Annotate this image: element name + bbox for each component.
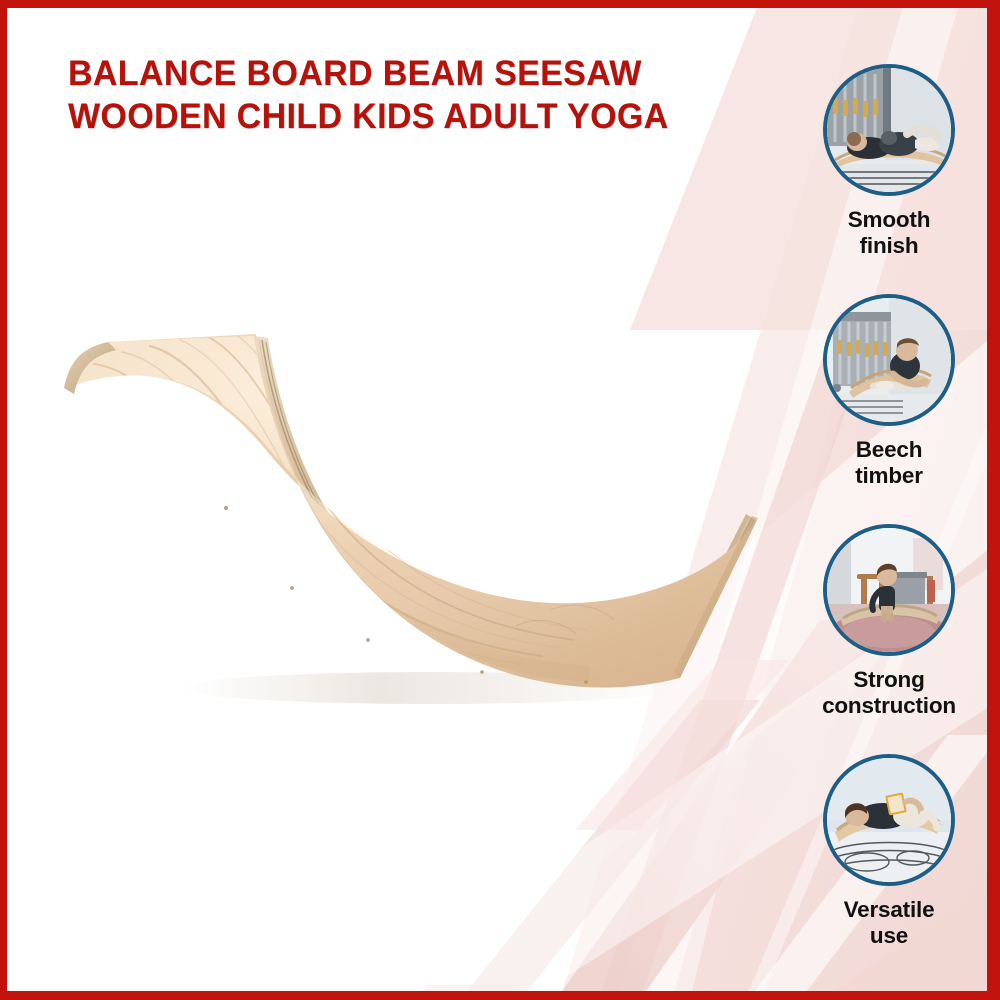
beech-timber-caption-line-1: Beech bbox=[856, 437, 923, 462]
beech-timber-caption: Beech timber bbox=[791, 437, 987, 489]
versatile-use-caption-line-1: Versatile bbox=[844, 897, 935, 922]
feature-item-smooth-finish: Smooth finish bbox=[791, 64, 987, 294]
strong-construction-caption-line-2: construction bbox=[822, 693, 956, 718]
strong-construction-caption: Strong construction bbox=[791, 667, 987, 719]
frame-border-right bbox=[987, 0, 1000, 1000]
product-image bbox=[30, 300, 790, 720]
versatile-use-photo bbox=[823, 754, 955, 886]
product-title-line-2: WOODEN CHILD KIDS ADULT YOGA bbox=[68, 95, 747, 138]
feature-item-strong-construction: Strong construction bbox=[791, 524, 987, 754]
strong-construction-caption-line-1: Strong bbox=[853, 667, 924, 692]
versatile-use-caption-line-2: use bbox=[870, 923, 908, 948]
smooth-finish-photo bbox=[823, 64, 955, 196]
smooth-finish-caption: Smooth finish bbox=[791, 207, 987, 259]
strong-construction-photo bbox=[823, 524, 955, 656]
product-title-line-1: BALANCE BOARD BEAM SEESAW bbox=[68, 52, 747, 95]
product-title: BALANCE BOARD BEAM SEESAW WOODEN CHILD K… bbox=[68, 52, 768, 138]
frame-border-left bbox=[0, 0, 7, 1000]
feature-rail: Smooth finish bbox=[791, 8, 987, 991]
beech-timber-caption-line-2: timber bbox=[855, 463, 923, 488]
feature-item-versatile-use: Versatile use bbox=[791, 754, 987, 984]
smooth-finish-caption-line-1: Smooth bbox=[848, 207, 931, 232]
beech-timber-photo bbox=[823, 294, 955, 426]
versatile-use-caption: Versatile use bbox=[791, 897, 987, 949]
product-poster: BALANCE BOARD BEAM SEESAW WOODEN CHILD K… bbox=[0, 0, 1000, 1000]
frame-border-top bbox=[0, 0, 1000, 8]
feature-item-beech-timber: Beech timber bbox=[791, 294, 987, 524]
frame-border-bottom bbox=[0, 991, 1000, 1000]
smooth-finish-caption-line-2: finish bbox=[860, 233, 919, 258]
